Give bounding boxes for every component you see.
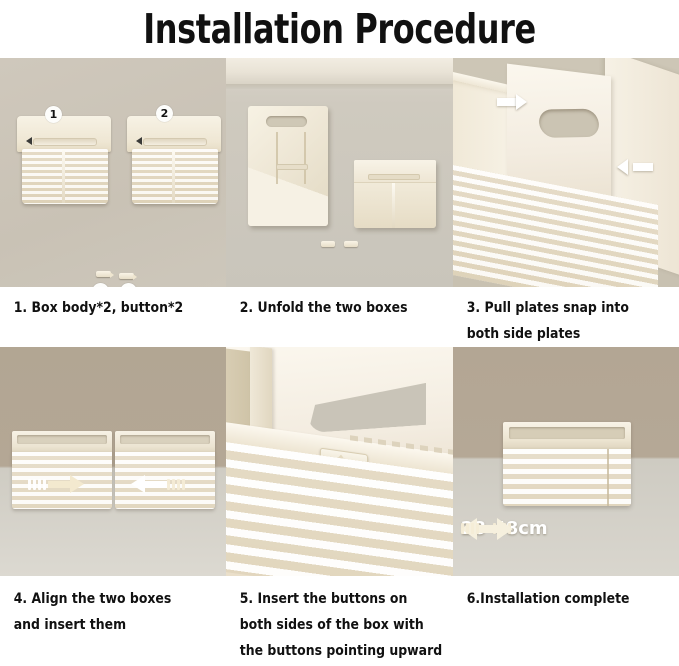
half-box-right	[115, 431, 215, 509]
page-title: Installation Procedure	[75, 0, 605, 54]
lid-arrow-icon	[26, 137, 32, 145]
arrow-bar	[145, 481, 167, 488]
box-rim-inner	[17, 435, 107, 444]
caption-line: the buttons pointing upward	[240, 638, 459, 664]
handle-slot	[537, 109, 600, 138]
caption-line: 4. Align the two boxes	[14, 586, 233, 612]
caption-line: 3. Pull plates snap into	[466, 295, 679, 321]
step-1-caption: 1. Box body*2, button*2	[0, 287, 242, 321]
box-lid	[127, 116, 221, 152]
box-body	[22, 149, 108, 204]
folded-box-2	[130, 116, 218, 204]
step-4-caption: 4. Align the two boxes and insert them	[0, 576, 242, 638]
arrow-dash	[476, 523, 479, 534]
callout-badge-2: 2	[156, 105, 173, 122]
arrow-dash	[182, 479, 185, 490]
button-part-4	[119, 273, 134, 279]
box-divider	[392, 183, 395, 228]
steps-row-1: 1 2 3 4 1. Box body*2, button*2	[0, 58, 679, 347]
lid-slot	[33, 138, 97, 146]
arrow-dash	[28, 479, 31, 490]
box-divider	[62, 150, 65, 203]
button-part-3	[96, 271, 111, 277]
step-3-image	[453, 58, 679, 287]
step-6-caption: 6.Installation complete	[453, 576, 679, 612]
arrow-dash	[471, 523, 474, 534]
lid-arrow-icon	[136, 137, 142, 145]
box-rim	[12, 431, 112, 453]
step-card-5: 5. Insert the buttons on both sides of t…	[226, 347, 452, 664]
step-5-image	[226, 347, 452, 576]
caption-line: both sides of the box with	[240, 612, 459, 638]
arrow-dash	[43, 479, 46, 490]
box-divider	[172, 150, 175, 203]
half-box-left	[12, 431, 112, 509]
snap-arrow-left-icon	[516, 94, 527, 110]
folded-box-1	[20, 116, 108, 204]
caption-line: 5. Insert the buttons on	[240, 586, 459, 612]
background-wall	[226, 58, 452, 86]
width-measurement: 28-48cm	[461, 518, 669, 539]
arrow-bar	[481, 525, 497, 533]
box-rim-inner	[120, 435, 210, 444]
unfolded-box	[248, 106, 328, 226]
step-1-image: 1 2 3 4	[0, 58, 226, 287]
box-rim	[503, 422, 631, 450]
extension-seam	[607, 449, 609, 506]
snap-arrow-right-bar	[633, 163, 653, 171]
caption-line: and insert them	[14, 612, 233, 638]
lid-slot	[143, 138, 207, 146]
installation-procedure-page: Installation Procedure	[0, 0, 679, 666]
snap-arrow-right-icon	[617, 159, 628, 175]
arrow-dash	[33, 479, 36, 490]
snap-arrow-left-bar	[497, 98, 517, 106]
step-4-image	[0, 347, 226, 576]
arrow-head-right-icon	[497, 518, 513, 540]
box-body	[132, 149, 218, 204]
arrow-dash	[167, 479, 170, 490]
caption-line: both side plates	[466, 321, 679, 347]
box-rim	[115, 431, 215, 453]
arrow-dash	[38, 479, 41, 490]
arrow-head-right-icon	[70, 475, 84, 493]
step-2-caption: 2. Unfold the two boxes	[226, 287, 468, 321]
align-arrow-left	[131, 475, 187, 493]
step-card-4: 4. Align the two boxes and insert them	[0, 347, 226, 664]
box-lid	[354, 160, 436, 183]
step-6-image: 28-48cm	[453, 347, 679, 576]
assembled-box	[503, 422, 631, 506]
step-card-6: 28-48cm 6.Installation complete	[453, 347, 679, 664]
step-card-3: 3. Pull plates snap into both side plate…	[453, 58, 679, 347]
inner-crease-left	[276, 132, 278, 184]
step-5-caption: 5. Insert the buttons on both sides of t…	[226, 576, 468, 664]
lid-slot	[368, 174, 420, 180]
inner-slot-bar	[276, 164, 308, 170]
box-lid	[17, 116, 111, 152]
step-2-image	[226, 58, 452, 287]
folded-box	[354, 160, 436, 228]
box-rim-inner	[509, 427, 625, 439]
arrow-dash	[466, 523, 469, 534]
inner-crease-right	[304, 132, 306, 184]
arrow-dash	[461, 523, 464, 534]
steps-row-2: 4. Align the two boxes and insert them	[0, 347, 679, 664]
step-3-caption: 3. Pull plates snap into both side plate…	[453, 287, 679, 347]
arrow-bar	[48, 481, 70, 488]
button-part-right	[344, 241, 358, 247]
arrow-dash	[177, 479, 180, 490]
callout-badge-1: 1	[45, 106, 62, 123]
step-card-1: 1 2 3 4 1. Box body*2, button*2	[0, 58, 226, 347]
align-arrow-right	[28, 475, 84, 493]
button-part-left	[321, 241, 335, 247]
step-card-2: 2. Unfold the two boxes	[226, 58, 452, 347]
handle-slot	[266, 116, 307, 127]
arrow-head-left-icon	[131, 475, 145, 493]
steps-grid: 1 2 3 4 1. Box body*2, button*2	[0, 58, 679, 664]
box-front-ribbed	[503, 449, 631, 506]
measure-arrow-right	[461, 518, 513, 540]
arrow-dash	[172, 479, 175, 490]
